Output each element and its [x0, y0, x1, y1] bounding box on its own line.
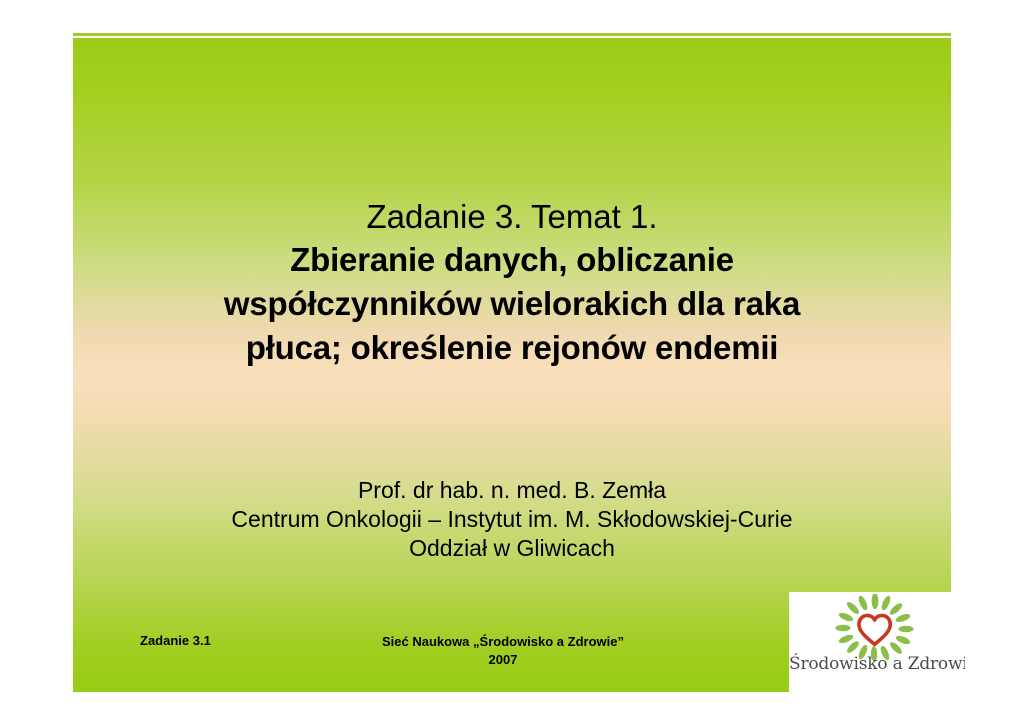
author-institution: Centrum Onkologii – Instytut im. M. Skło…: [113, 505, 911, 534]
author-affiliation-block: Prof. dr hab. n. med. B. Zemła Centrum O…: [113, 476, 911, 563]
author-department: Oddział w Gliwicach: [113, 534, 911, 563]
logo-caption: Środowisko a Zdrowie: [789, 654, 965, 674]
author-name: Prof. dr hab. n. med. B. Zemła: [113, 476, 911, 505]
page-title: Zadanie 3. Temat 1. Zbieranie danych, ob…: [113, 195, 911, 370]
footer-network-name: Sieć Naukowa „Środowisko a Zdrowie”: [283, 633, 723, 651]
footer-network-block: Sieć Naukowa „Środowisko a Zdrowie” 2007: [283, 633, 723, 669]
organization-logo: Środowisko a Zdrowie: [789, 592, 965, 692]
title-line-2: Zbieranie danych, obliczanie: [113, 238, 911, 282]
title-line-4: płuca; określenie rejonów endemii: [113, 326, 911, 370]
title-line-1: Zadanie 3. Temat 1.: [113, 195, 911, 238]
title-line-3: współczynników wielorakich dla raka: [113, 282, 911, 326]
footer-task-label: Zadanie 3.1: [140, 633, 211, 648]
slide-canvas: Zadanie 3. Temat 1. Zbieranie danych, ob…: [0, 0, 1024, 724]
heart-with-leaves-icon: [827, 594, 923, 660]
footer-year: 2007: [283, 651, 723, 669]
